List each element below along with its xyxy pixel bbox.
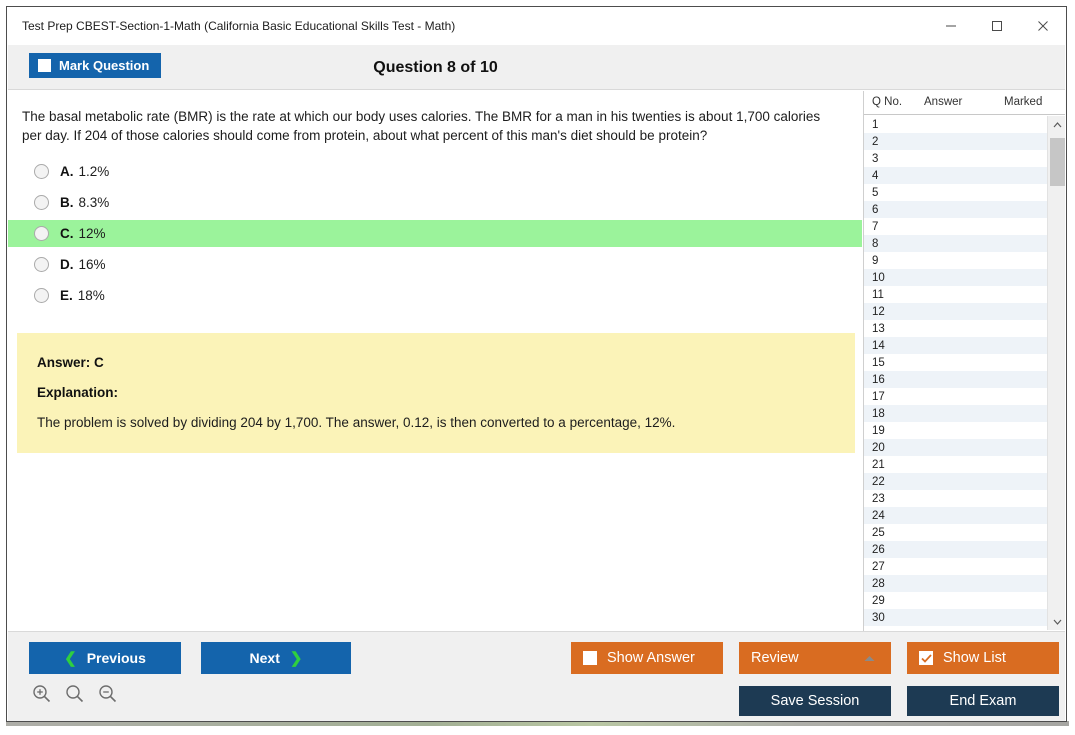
question-number: 19 [864,425,916,437]
title-bar: Test Prep CBEST-Section-1-Math (Californ… [7,7,1066,45]
option-letter: B. [60,195,74,210]
end-exam-button[interactable]: End Exam [907,686,1059,716]
previous-button[interactable]: ❮ Previous [29,642,181,674]
question-list-row[interactable]: 20 [864,439,1047,456]
zoom-reset-icon[interactable] [65,684,84,708]
question-list-rows: 1234567891011121314151617181920212223242… [864,116,1047,630]
question-list-header: Q No. Answer Marked [864,91,1065,115]
option-text: 16% [79,257,106,272]
question-number: 21 [864,459,916,471]
question-list-row[interactable]: 28 [864,575,1047,592]
question-list-row[interactable]: 5 [864,184,1047,201]
question-number: 16 [864,374,916,386]
question-list-row[interactable]: 10 [864,269,1047,286]
option-letter: C. [60,226,74,241]
question-list-row[interactable]: 11 [864,286,1047,303]
question-list-row[interactable]: 22 [864,473,1047,490]
question-stem: The basal metabolic rate (BMR) is the ra… [22,107,842,145]
question-list-row[interactable]: 30 [864,609,1047,626]
chevron-right-icon: ❯ [290,649,303,667]
question-list-row[interactable]: 8 [864,235,1047,252]
maximize-icon [991,20,1003,32]
option-letter: E. [60,288,73,303]
column-header-marked: Marked [1004,96,1042,108]
question-number: 1 [864,119,916,131]
question-number: 5 [864,187,916,199]
option-text: 1.2% [79,164,110,179]
explanation-label: Explanation: [37,385,118,400]
question-number: 30 [864,612,916,624]
question-number: 7 [864,221,916,233]
question-number: 2 [864,136,916,148]
application-window: Test Prep CBEST-Section-1-Math (Californ… [0,0,1075,735]
question-number: 22 [864,476,916,488]
previous-label: Previous [87,650,146,666]
question-list-row[interactable]: 23 [864,490,1047,507]
question-number: 11 [864,289,916,301]
zoom-out-icon[interactable] [98,684,117,708]
question-list-row[interactable]: 29 [864,592,1047,609]
option-row[interactable]: A. 1.2% [8,158,862,185]
question-number: 23 [864,493,916,505]
question-list-row[interactable]: 15 [864,354,1047,371]
minimize-icon [945,20,957,32]
mark-question-label: Mark Question [59,58,149,73]
question-list-row[interactable]: 7 [864,218,1047,235]
option-text: 12% [79,226,106,241]
question-list-row[interactable]: 6 [864,201,1047,218]
save-session-label: Save Session [771,693,860,709]
question-number: 17 [864,391,916,403]
question-list-row[interactable]: 12 [864,303,1047,320]
option-row[interactable]: B. 8.3% [8,189,862,216]
chevron-left-icon: ❮ [64,649,77,667]
scroll-up-arrow-icon[interactable] [1048,116,1065,133]
answer-line: Answer: C [37,355,104,370]
question-number: 9 [864,255,916,267]
window-title: Test Prep CBEST-Section-1-Math (Californ… [22,19,455,33]
review-dropdown[interactable]: Review [739,642,891,674]
question-list-row[interactable]: 14 [864,337,1047,354]
close-icon [1037,20,1049,32]
question-number: 26 [864,544,916,556]
show-list-label: Show List [943,650,1006,666]
option-row[interactable]: D. 16% [8,251,862,278]
window-controls [928,7,1066,45]
exam-window: Test Prep CBEST-Section-1-Math (Californ… [6,6,1067,722]
maximize-button[interactable] [974,7,1020,45]
close-button[interactable] [1020,7,1066,45]
option-row-correct[interactable]: C. 12% [8,220,862,247]
question-number: 14 [864,340,916,352]
question-number: 10 [864,272,916,284]
review-label: Review [751,650,799,666]
question-header-bar: Mark Question Question 8 of 10 [8,45,1065,90]
zoom-controls [32,684,117,708]
scrollbar-thumb[interactable] [1050,138,1065,186]
save-session-button[interactable]: Save Session [739,686,891,716]
end-exam-label: End Exam [950,693,1017,709]
show-list-checkbox[interactable] [919,651,933,665]
answer-options-list: A. 1.2% B. 8.3% C. 12% D. 16% [8,158,862,313]
show-list-toggle[interactable]: Show List [907,642,1059,674]
footer-toolbar: ❮ Previous Next ❯ Show Answer Review [8,631,1065,721]
option-radio-e[interactable] [34,288,49,303]
question-number: 24 [864,510,916,522]
show-answer-toggle[interactable]: Show Answer [571,642,723,674]
question-list-row[interactable]: 1 [864,116,1047,133]
option-row[interactable]: E. 18% [8,282,862,309]
question-list-row[interactable]: 17 [864,388,1047,405]
question-number: 28 [864,578,916,590]
column-header-qno: Q No. [872,96,902,108]
show-answer-label: Show Answer [607,650,695,666]
show-answer-checkbox[interactable] [583,651,597,665]
question-list-panel: Q No. Answer Marked 12345678910111213141… [863,91,1065,631]
question-number: 3 [864,153,916,165]
next-button[interactable]: Next ❯ [201,642,351,674]
option-letter: A. [60,164,74,179]
question-list-row[interactable]: 4 [864,167,1047,184]
question-number: 18 [864,408,916,420]
question-number: 12 [864,306,916,318]
question-number: 27 [864,561,916,573]
question-number: 15 [864,357,916,369]
question-list-row[interactable]: 21 [864,456,1047,473]
question-number: 6 [864,204,916,216]
option-text: 18% [78,288,105,303]
question-list-row[interactable]: 19 [864,422,1047,439]
checkmark-icon [921,654,932,663]
question-number: 4 [864,170,916,182]
option-radio-a[interactable] [34,164,49,179]
question-list-row[interactable]: 18 [864,405,1047,422]
option-radio-d[interactable] [34,257,49,272]
chevron-up-icon [864,650,875,666]
question-list-row[interactable]: 2 [864,133,1047,150]
option-radio-b[interactable] [34,195,49,210]
question-number: 29 [864,595,916,607]
explanation-panel: Answer: C Explanation: The problem is so… [17,333,855,453]
option-letter: D. [60,257,74,272]
next-label: Next [250,650,280,666]
explanation-body: The problem is solved by dividing 204 by… [37,415,837,430]
question-list-scrollbar[interactable] [1047,116,1065,630]
question-list-row[interactable]: 25 [864,524,1047,541]
mark-question-button[interactable]: Mark Question [29,53,161,78]
column-header-answer: Answer [924,96,962,108]
scroll-down-arrow-icon[interactable] [1048,613,1065,630]
question-list-row[interactable]: 26 [864,541,1047,558]
zoom-in-icon[interactable] [32,684,51,708]
question-list-row[interactable]: 16 [864,371,1047,388]
minimize-button[interactable] [928,7,974,45]
question-number: 13 [864,323,916,335]
question-number: 8 [864,238,916,250]
question-pane: The basal metabolic rate (BMR) is the ra… [8,91,862,631]
question-list-row[interactable]: 13 [864,320,1047,337]
question-number: 20 [864,442,916,454]
question-list-row[interactable]: 27 [864,558,1047,575]
question-number: 25 [864,527,916,539]
question-list-row[interactable]: 9 [864,252,1047,269]
question-list-row[interactable]: 24 [864,507,1047,524]
option-text: 8.3% [79,195,110,210]
option-radio-c[interactable] [34,226,49,241]
mark-question-checkbox[interactable] [38,59,51,72]
question-list-row[interactable]: 3 [864,150,1047,167]
